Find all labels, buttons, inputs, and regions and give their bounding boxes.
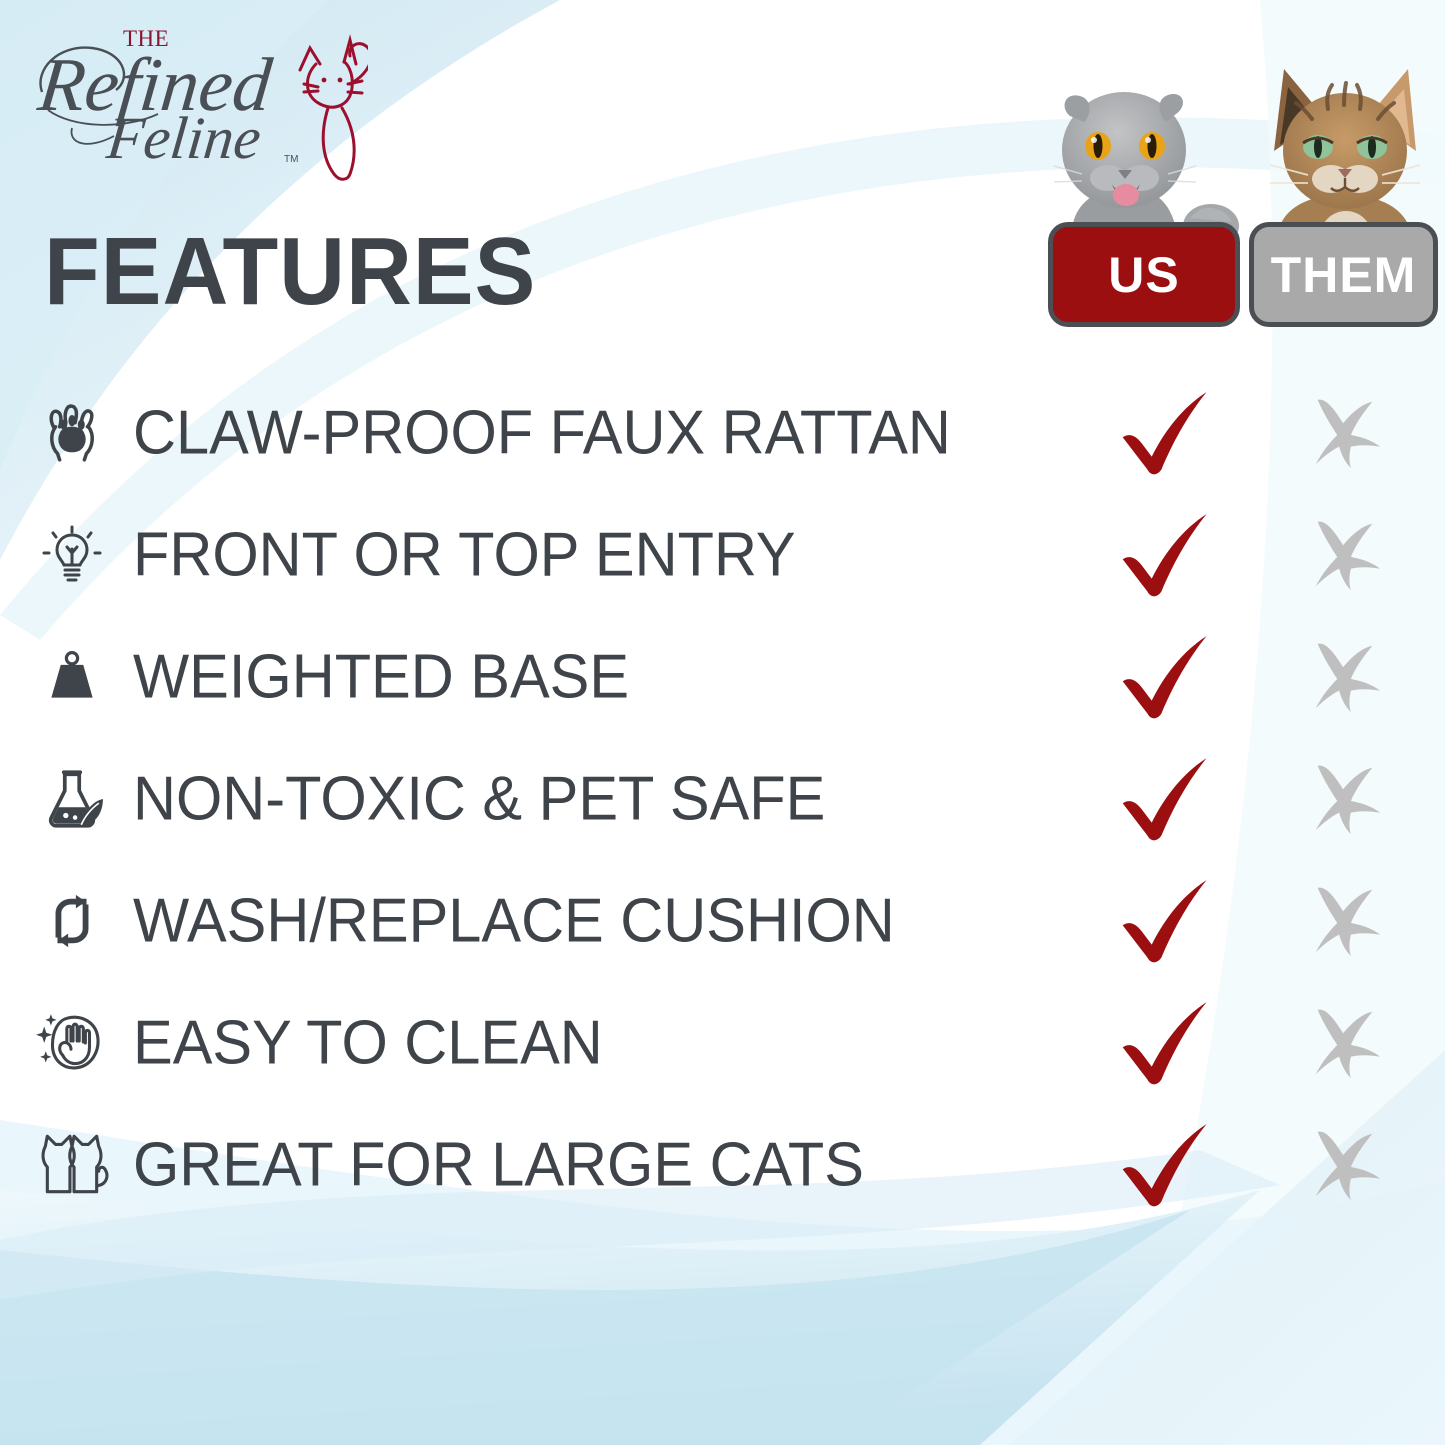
badge-us[interactable]: US (1048, 222, 1240, 327)
flask-leaf-icon (30, 757, 114, 841)
cat-paw-icon (30, 391, 114, 475)
red-check-mark (1105, 390, 1235, 476)
red-check-mark (1105, 634, 1235, 720)
feature-row: NON-TOXIC & PET SAFE (0, 738, 1445, 860)
logo-tm: TM (284, 154, 298, 165)
feature-row: GREAT FOR LARGE CATS (0, 1104, 1445, 1226)
red-check-mark (1105, 878, 1235, 964)
page-title: FEATURES (44, 224, 536, 320)
red-check-mark (1105, 756, 1235, 842)
cat-silhouette-logo (300, 40, 368, 179)
gray-x-mark (1282, 516, 1412, 594)
feature-label: WASH/REPLACE CUSHION (133, 886, 895, 957)
recycle-arrows-icon (30, 879, 114, 963)
two-cats-icon (30, 1123, 114, 1207)
feature-label: GREAT FOR LARGE CATS (133, 1130, 864, 1201)
red-check-mark (1105, 1000, 1235, 1086)
badge-them[interactable]: THEM (1249, 222, 1438, 327)
features-list: CLAW-PROOF FAUX RATTAN (0, 372, 1445, 1226)
feature-row: WASH/REPLACE CUSHION (0, 860, 1445, 982)
feature-label: WEIGHTED BASE (133, 642, 629, 713)
logo-feline: Feline (103, 105, 264, 172)
feature-row: EASY TO CLEAN (0, 982, 1445, 1104)
gray-x-mark (1282, 1004, 1412, 1082)
gray-x-mark (1282, 1126, 1412, 1204)
feature-row: FRONT OR TOP ENTRY (0, 494, 1445, 616)
cat-us-photo (1048, 78, 1248, 246)
comparison-badges: US THEM (1048, 222, 1438, 327)
red-check-mark (1105, 512, 1235, 598)
features-comparison-infographic: THE Refined Feline TM (0, 0, 1445, 1445)
feature-label: EASY TO CLEAN (133, 1008, 603, 1079)
feature-row: WEIGHTED BASE (0, 616, 1445, 738)
red-check-mark (1105, 1122, 1235, 1208)
weight-icon (30, 635, 114, 719)
gray-x-mark (1282, 760, 1412, 838)
feature-label: NON-TOXIC & PET SAFE (133, 764, 825, 835)
feature-label: FRONT OR TOP ENTRY (133, 520, 796, 591)
feature-row: CLAW-PROOF FAUX RATTAN (0, 372, 1445, 494)
gray-x-mark (1282, 882, 1412, 960)
gray-x-mark (1282, 394, 1412, 472)
brand-logo: THE Refined Feline TM (28, 18, 368, 188)
gray-x-mark (1282, 638, 1412, 716)
wiping-hand-icon (30, 1001, 114, 1085)
feature-label: CLAW-PROOF FAUX RATTAN (133, 398, 951, 469)
lightbulb-icon (30, 513, 114, 597)
